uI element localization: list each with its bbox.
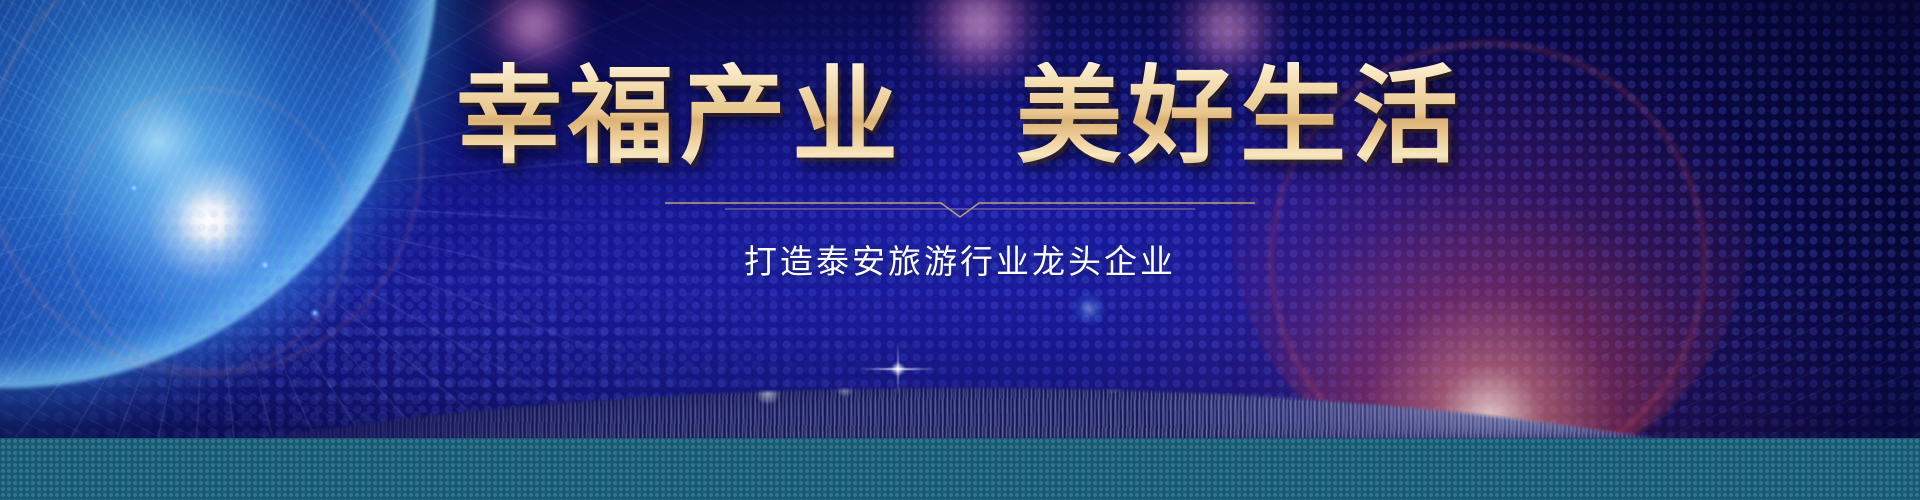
- v-notch-divider-icon: [665, 195, 1255, 221]
- divider: [665, 195, 1255, 221]
- banner-headline: 幸福产业 美好生活: [456, 62, 1464, 173]
- banner-content: 幸福产业 美好生活 打造泰安旅游行业龙头企业: [0, 0, 1920, 500]
- banner-subtitle: 打造泰安旅游行业龙头企业: [744, 235, 1176, 283]
- hero-banner: 幸福产业 美好生活 打造泰安旅游行业龙头企业: [0, 0, 1920, 500]
